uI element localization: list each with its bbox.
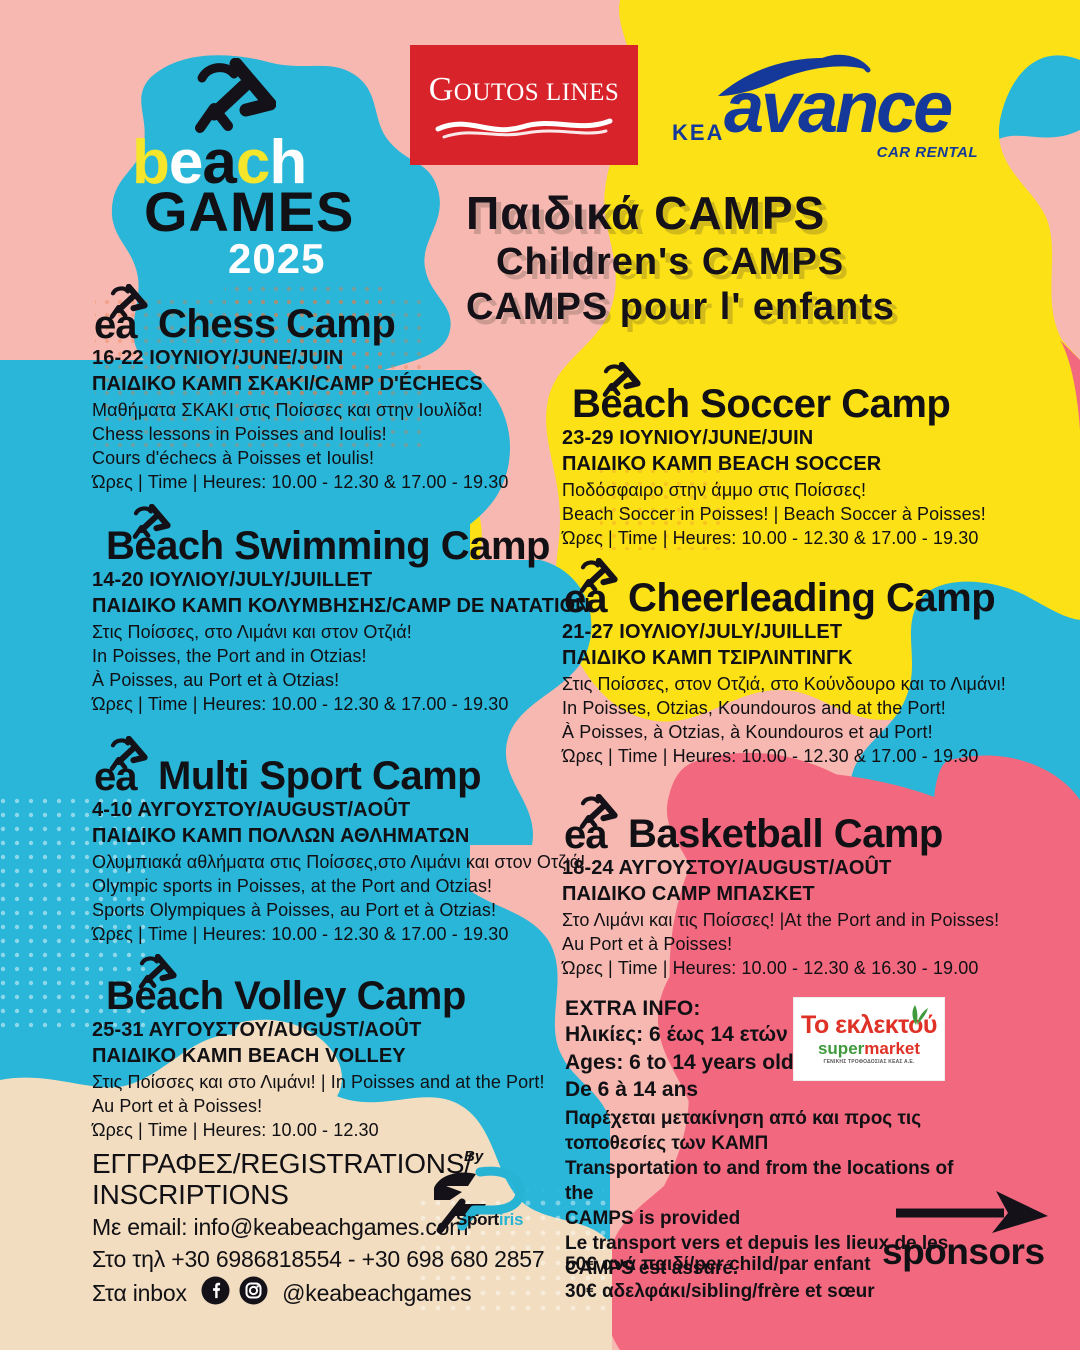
logo-year: 2025: [228, 240, 325, 279]
camp-subtitle: ΠΑΙΔΙΚΟ ΚΑΜΠ ΚΟΛΥΜΒΗΣΗΣ/CAMP DE NATATION: [92, 593, 590, 620]
camp-line-gr: Στο Λιμάνι και τις Ποίσσες! |At the Port…: [562, 908, 999, 932]
avance-subtitle: CAR RENTAL: [877, 144, 978, 161]
camp-line-en: Olympic sports in Poisses, at the Port a…: [92, 874, 585, 898]
camp-line-fr: À Poisses, au Port et à Otzias!: [92, 668, 590, 692]
camp-line-gr: Στις Ποίσσες, στο Λιμάνι και στον Οτζιά!: [92, 620, 590, 644]
kea-ea-text: ea: [564, 577, 607, 622]
camp-line-fr: Cours d'échecs à Poisses et Ioulis!: [92, 446, 508, 470]
camp-dates: 18-24 ΑΥΓΟΥΣΤΟΥ/AUGUST/AOÛT: [562, 855, 999, 881]
camp-line-fr: Au Port et à Poisses!: [562, 932, 999, 956]
kea-logo-small: ea: [562, 798, 624, 854]
camp-line-gr: Ποδόσφαιρο στην άμμο στις Ποίσσες!: [562, 478, 986, 502]
camp-line-en: In Poisses, the Port and in Otzias!: [92, 644, 590, 668]
title-greek: Παιδικά CAMPS: [466, 186, 1026, 240]
goutos-wordmark: GOUTOS LINES: [429, 71, 620, 109]
transport-gr-1: Παρέχεται μετακίνηση από και προς τις: [565, 1106, 965, 1131]
kea-ea-text: ea: [94, 755, 137, 800]
camp-name: Basketball Camp: [628, 814, 943, 854]
camp-subtitle: ΠΑΙΔΙΚΟ ΚΑΜΠ BEACH VOLLEY: [92, 1043, 545, 1070]
registrations-social-row: Στα inbox @keabeachgames: [92, 1276, 562, 1310]
camp-name: Beach Swimming Camp: [106, 526, 550, 566]
camp-dates: 25-31 ΑΥΓΟΥΣΤΟΥ/AUGUST/AOÛT: [92, 1017, 545, 1043]
camp-hours: Ώρες | Time | Heures: 10.00 - 12.30 & 16…: [562, 956, 999, 980]
camp-block-beach-soccer: Beach Soccer Camp 23-29 ΙΟΥΝΙΟΥ/JUNE/JUI…: [562, 368, 986, 550]
avance-kea-text: KEA: [672, 120, 724, 146]
sportiris-wordmark: Sportiris: [456, 1210, 523, 1230]
camp-name: Cheerleading Camp: [628, 578, 995, 618]
camp-line-gr: Στις Ποίσσες, στον Οτζιά, στο Κούνδουρο …: [562, 672, 1006, 696]
camp-line-fr: À Poisses, à Otzias, à Koundouros et au …: [562, 720, 1006, 744]
camp-hours: Ώρες | Time | Heures: 10.00 - 12.30 & 17…: [562, 526, 986, 550]
camp-block-beach-swimming: Beach Swimming Camp 14-20 ΙΟΥΛΙΟΥ/JULY/J…: [92, 510, 590, 716]
camp-name: Chess Camp: [158, 304, 395, 344]
sponsor-logo-sportiris: By Sportiris: [428, 1148, 538, 1240]
camp-line-fr: Au Port et à Poisses!: [92, 1094, 545, 1118]
title-english: Children's CAMPS: [466, 240, 1026, 285]
camp-block-chess: ea Chess Camp 16-22 ΙΟΥΝΙΟΥ/JUNE/JUIN ΠΑ…: [92, 288, 508, 494]
facebook-icon[interactable]: [201, 1276, 230, 1305]
instagram-icon[interactable]: [239, 1276, 268, 1305]
title-french: CAMPS pour l' enfants: [466, 285, 1026, 330]
camp-dates: 16-22 ΙΟΥΝΙΟΥ/JUNE/JUIN: [92, 345, 508, 371]
camp-line-gr: Μαθήματα ΣΚΑΚΙ στις Ποίσσες και στην Ιου…: [92, 398, 508, 422]
social-handle[interactable]: @keabeachgames: [282, 1280, 471, 1306]
page-title: Παιδικά CAMPS Children's CAMPS CAMPS pou…: [466, 186, 1026, 330]
kea-ea-text: ea: [94, 303, 137, 348]
camp-block-multi-sport: ea Multi Sport Camp 4-10 ΑΥΓΟΥΣΤΟΥ/AUGUS…: [92, 740, 585, 946]
kea-logo-small: ea: [562, 562, 624, 618]
camp-hours: Ώρες | Time | Heures: 10.00 - 12.30 & 17…: [92, 692, 590, 716]
camp-subtitle: ΠΑΙΔΙΚΟ CAMP ΜΠΑΣΚΕΤ: [562, 881, 999, 908]
camp-hours: Ώρες | Time | Heures: 10.00 - 12.30 & 17…: [92, 922, 585, 946]
supermarket-subtitle: supermarket: [818, 1040, 920, 1057]
camp-line-en: Chess lessons in Poisses and Ioulis!: [92, 422, 508, 446]
transport-gr-2: τοποθεσίες των ΚΑΜΠ: [565, 1131, 965, 1156]
goutos-wave-icon: [434, 113, 614, 139]
sponsors-pointer: sponsors: [882, 1189, 1052, 1284]
kea-logo-small: ea: [92, 288, 154, 344]
camp-dates: 23-29 ΙΟΥΝΙΟΥ/JUNE/JUIN: [562, 425, 986, 451]
camp-dates: 4-10 ΑΥΓΟΥΣΤΟΥ/AUGUST/AOÛT: [92, 797, 585, 823]
camp-block-basketball: ea Basketball Camp 18-24 ΑΥΓΟΥΣΤΟΥ/AUGUS…: [562, 798, 999, 980]
sponsor-logo-to-eklektou-supermarket: Το εκλεκτού supermarket ΓΕΝΙΚΗΣ ΤΡΟΦΟΔΟΣ…: [793, 997, 945, 1081]
kea-beach-games-logo: beach GAMES 2025: [132, 58, 362, 258]
sponsor-logo-kea-avance: KEA avance CAR RENTAL: [672, 52, 982, 162]
camp-line-gr: Στις Ποίσσες και στο Λιμάνι! | In Poisse…: [92, 1070, 545, 1094]
camp-dates: 21-27 ΙΟΥΛΙΟΥ/JULY/JUILLET: [562, 619, 1006, 645]
sponsors-label: sponsors: [882, 1231, 1045, 1273]
kea-ea-text: ea: [564, 813, 607, 858]
leaf-icon: [904, 1003, 930, 1027]
camp-line-fr: Sports Olympiques à Poisses, au Port et …: [92, 898, 585, 922]
avance-wordmark: avance: [724, 72, 950, 144]
camp-line-en: Beach Soccer in Poisses! | Beach Soccer …: [562, 502, 986, 526]
camp-subtitle: ΠΑΙΔΙΚΟ ΚΑΜΠ ΣΚΑΚΙ/CAMP D'ÉCHECS: [92, 371, 508, 398]
camp-subtitle: ΠΑΙΔΙΚΟ ΚΑΜΠ ΤΣΙΡΛΙΝΤΙΝΓΚ: [562, 645, 1006, 672]
camp-hours: Ώρες | Time | Heures: 10.00 - 12.30: [92, 1118, 545, 1142]
social-icons: [201, 1276, 268, 1305]
registrations-phone[interactable]: Στο τηλ +30 6986818554 - +30 698 680 285…: [92, 1243, 562, 1276]
camp-line-en: In Poisses, Otzias, Koundouros and at th…: [562, 696, 1006, 720]
supermarket-legal: ΓΕΝΙΚΗΣ ΤΡΟΦΟΔΟΣΙΑΣ ΚΕΑΣ Α.Ε.: [823, 1059, 914, 1065]
camp-subtitle: ΠΑΙΔΙΚΟ ΚΑΜΠ ΠΟΛΛΩΝ ΑΘΛΗΜΑΤΩΝ: [92, 823, 585, 850]
camp-line-gr: Ολυμπιακά αθλήματα στις Ποίσσες,στο Λιμά…: [92, 850, 585, 874]
camp-hours: Ώρες | Time | Heures: 10.00 - 12.30 & 17…: [562, 744, 1006, 768]
camp-hours: Ώρες | Time | Heures: 10.00 - 12.30 & 17…: [92, 470, 508, 494]
camp-block-cheerleading: ea Cheerleading Camp 21-27 ΙΟΥΛΙΟΥ/JULY/…: [562, 562, 1006, 768]
sponsor-logo-goutos-lines: GOUTOS LINES: [410, 45, 638, 165]
kea-logo-small: ea: [92, 740, 154, 796]
logo-word-games: GAMES: [144, 186, 354, 238]
inbox-label: Στα inbox: [92, 1280, 187, 1306]
camp-name: Multi Sport Camp: [158, 756, 481, 796]
camp-block-beach-volley: Beach Volley Camp 25-31 ΑΥΓΟΥΣΤΟΥ/AUGUST…: [92, 960, 545, 1142]
camp-dates: 14-20 ΙΟΥΛΙΟΥ/JULY/JUILLET: [92, 567, 590, 593]
camp-subtitle: ΠΑΙΔΙΚΟ ΚΑΜΠ BEACH SOCCER: [562, 451, 986, 478]
